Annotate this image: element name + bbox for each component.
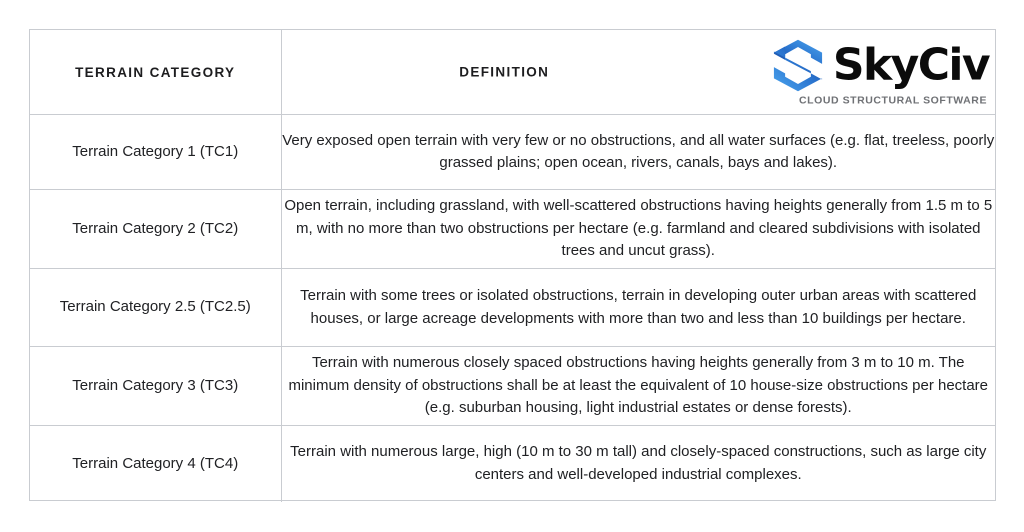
terrain-category-table: TERRAIN CATEGORY DEFINITION [30, 30, 995, 502]
column-header-definition-cell: DEFINITION [281, 30, 995, 115]
cell-terrain-category: Terrain Category 2.5 (TC2.5) [30, 269, 281, 347]
table-row: Terrain Category 3 (TC3) Terrain with nu… [30, 347, 995, 426]
cell-definition: Terrain with numerous closely spaced obs… [281, 347, 995, 426]
page-root: TERRAIN CATEGORY DEFINITION [0, 0, 1024, 532]
cell-definition: Very exposed open terrain with very few … [281, 115, 995, 190]
table-row: Terrain Category 2.5 (TC2.5) Terrain wit… [30, 269, 995, 347]
cell-terrain-category: Terrain Category 2 (TC2) [30, 190, 281, 269]
cell-terrain-category: Terrain Category 1 (TC1) [30, 115, 281, 190]
table-header-row: TERRAIN CATEGORY DEFINITION [30, 30, 995, 115]
table-row: Terrain Category 4 (TC4) Terrain with nu… [30, 426, 995, 502]
skyciv-logo: SkyCiv CLOUD STRUCTURAL SOFTWARE [733, 38, 989, 107]
cell-terrain-category: Terrain Category 3 (TC3) [30, 347, 281, 426]
column-header-terrain-category: TERRAIN CATEGORY [30, 30, 281, 115]
skyciv-tagline: CLOUD STRUCTURAL SOFTWARE [799, 95, 987, 107]
table-row: Terrain Category 1 (TC1) Very exposed op… [30, 115, 995, 190]
definition-header-inner: DEFINITION [282, 30, 996, 114]
logo-primary-row: SkyCiv [770, 38, 989, 94]
skyciv-hexagon-s-icon [770, 38, 826, 94]
cell-terrain-category: Terrain Category 4 (TC4) [30, 426, 281, 502]
terrain-category-table-container: TERRAIN CATEGORY DEFINITION [29, 29, 996, 501]
cell-definition: Terrain with numerous large, high (10 m … [281, 426, 995, 502]
cell-definition: Open terrain, including grassland, with … [281, 190, 995, 269]
cell-definition: Terrain with some trees or isolated obst… [281, 269, 995, 347]
table-row: Terrain Category 2 (TC2) Open terrain, i… [30, 190, 995, 269]
skyciv-wordmark: SkyCiv [833, 44, 989, 86]
